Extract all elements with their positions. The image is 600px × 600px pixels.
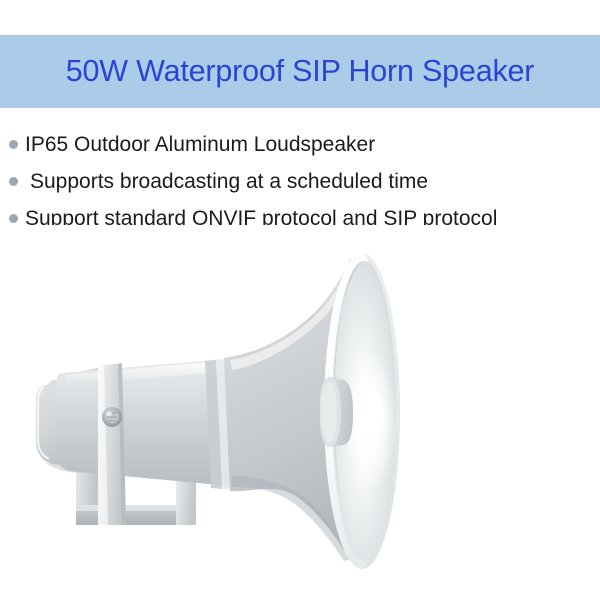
list-item-label: IP65 Outdoor Aluminum Loudspeaker [25,134,375,155]
bullet-dot-icon [9,177,18,186]
page-title: 50W Waterproof SIP Horn Speaker [66,56,534,87]
title-banner: 50W Waterproof SIP Horn Speaker [0,35,600,108]
bolt-highlight [106,411,112,416]
list-item: IP65 Outdoor Aluminum Loudspeaker [0,126,600,163]
list-item: Supports broadcasting at a scheduled tim… [0,163,600,200]
bell-hotspot [360,391,384,435]
list-item-label: Supports broadcasting at a scheduled tim… [25,171,428,192]
driver-nose-cone [320,377,353,447]
nose-cone-face-highlight [321,381,337,443]
horn-speaker-illustration [0,225,600,600]
pivot-bolt [102,407,122,427]
product-image [0,225,600,600]
feature-list: IP65 Outdoor Aluminum Loudspeaker Suppor… [0,126,600,237]
product-info-card: 50W Waterproof SIP Horn Speaker IP65 Out… [0,0,600,600]
bullet-dot-icon [9,214,18,223]
bracket-front-plate [98,363,126,525]
bullet-dot-icon [9,140,18,149]
